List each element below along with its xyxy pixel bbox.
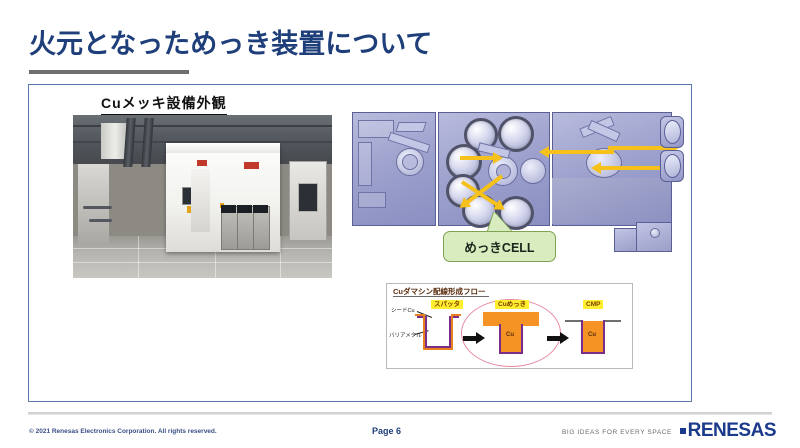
photo-pipe [89,219,112,222]
step-tag: CMP [583,300,603,309]
seed-layer-label: シードCu [391,306,415,314]
load-arrow [608,146,670,150]
tool-layout-schematic [352,108,682,248]
auxiliary-port [650,228,660,238]
photo-left-equipment [78,164,109,246]
page-number: Page 6 [372,426,401,436]
plating-cell-callout: めっきCELL [443,231,556,262]
tool-warning-label [244,162,259,169]
right-bay-base [552,178,670,224]
title-underline [29,70,189,74]
tool-warning-label [197,160,207,165]
tool-side-module [191,169,209,232]
floor-tile-line [73,262,332,263]
slide-root: 火元となっためっき装置について Cuメッキ設備外観 [0,0,800,448]
brand-tagline: BIG IDEAS FOR EVERY SPACE [562,429,672,436]
footer-divider [28,412,772,415]
bay-left-rotor-hub [402,154,418,170]
port-lid [237,205,252,213]
port-lid [221,205,236,213]
middle-aligner [520,158,546,184]
load-port-foup [664,154,681,178]
unload-arrow [548,150,614,154]
bay-left-module [358,192,386,208]
damascene-flow-diagram: Cuダマシン配線形成フロー シードCu バリアメタル スパッタ Cuめっき [386,283,633,369]
plating-cell [498,116,534,152]
logo-wordmark: RENESAS [688,420,776,442]
callout-label: めっきCELL [464,237,534,256]
plating-tool-photo [73,115,332,278]
floor-tile-line [138,236,139,278]
load-port-foup [664,120,681,144]
photo-caption: Cuメッキ設備外観 [101,93,227,116]
renesas-logo: RENESAS [680,420,776,442]
flow-title-underline [393,296,489,297]
copyright-text: © 2021 Renesas Electronics Corporation. … [29,428,217,435]
photo-main-tool [166,143,280,252]
bay-left-arm [395,122,426,132]
auxiliary-unit [614,228,638,252]
flow-step-arrow [547,336,561,341]
step-tag: Cuめっき [495,300,529,309]
right-tool-window [298,183,318,211]
tool-top-panel [166,143,280,153]
step-tag: スパッタ [431,300,463,309]
flow-arrow [460,156,494,160]
bay-left-module [358,142,372,186]
floor-tile-line [280,236,281,278]
port-lid [253,205,268,213]
photo-pipe [83,206,111,209]
page-title: 火元となっためっき装置について [29,22,432,61]
logo-mark-icon [680,428,686,434]
flow-step-arrow [463,336,477,341]
